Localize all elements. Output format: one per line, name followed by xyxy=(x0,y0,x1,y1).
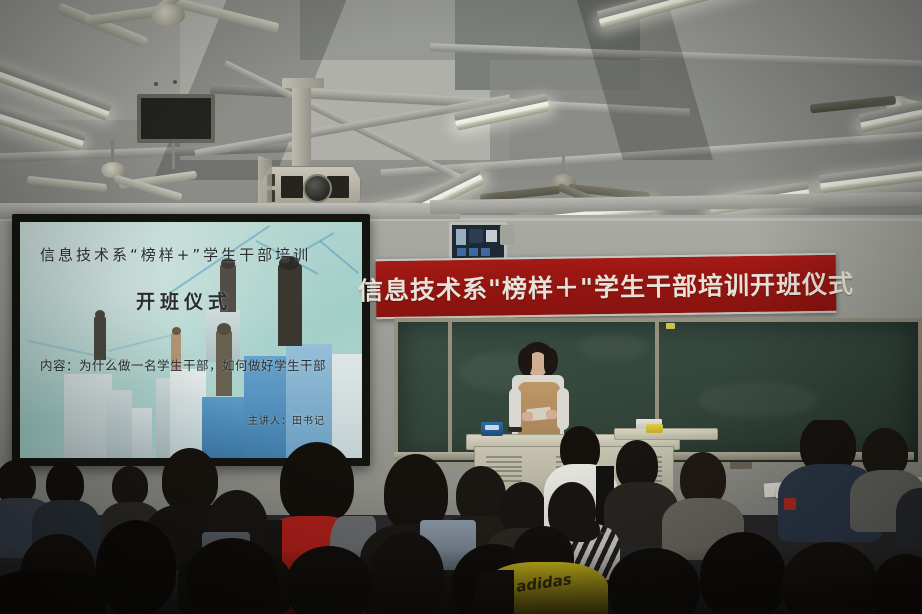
seated-student-audience: adidas xyxy=(0,420,922,614)
red-welcome-banner: 信息技术系"榜样＋"学生干部培训开班仪式 xyxy=(376,253,837,319)
audience-head xyxy=(280,442,354,524)
slide-title-line1: 信息技术系“榜样+”学生干部培训 xyxy=(40,244,311,265)
audience-head xyxy=(112,466,148,506)
banner-text: 信息技术系"榜样＋"学生干部培训开班仪式 xyxy=(358,265,855,308)
classroom-photo-scene: 信息技术系“榜样+”学生干部培训 开班仪式 内容：为什么做一名学生干部，如何做好… xyxy=(0,0,922,614)
ceiling-fan-icon xyxy=(55,0,275,60)
audience-head xyxy=(162,448,218,512)
slide-content-line: 内容：为什么做一名学生干部，如何做好学生干部 xyxy=(40,355,326,374)
slide-title-line2: 开班仪式 xyxy=(136,287,232,314)
